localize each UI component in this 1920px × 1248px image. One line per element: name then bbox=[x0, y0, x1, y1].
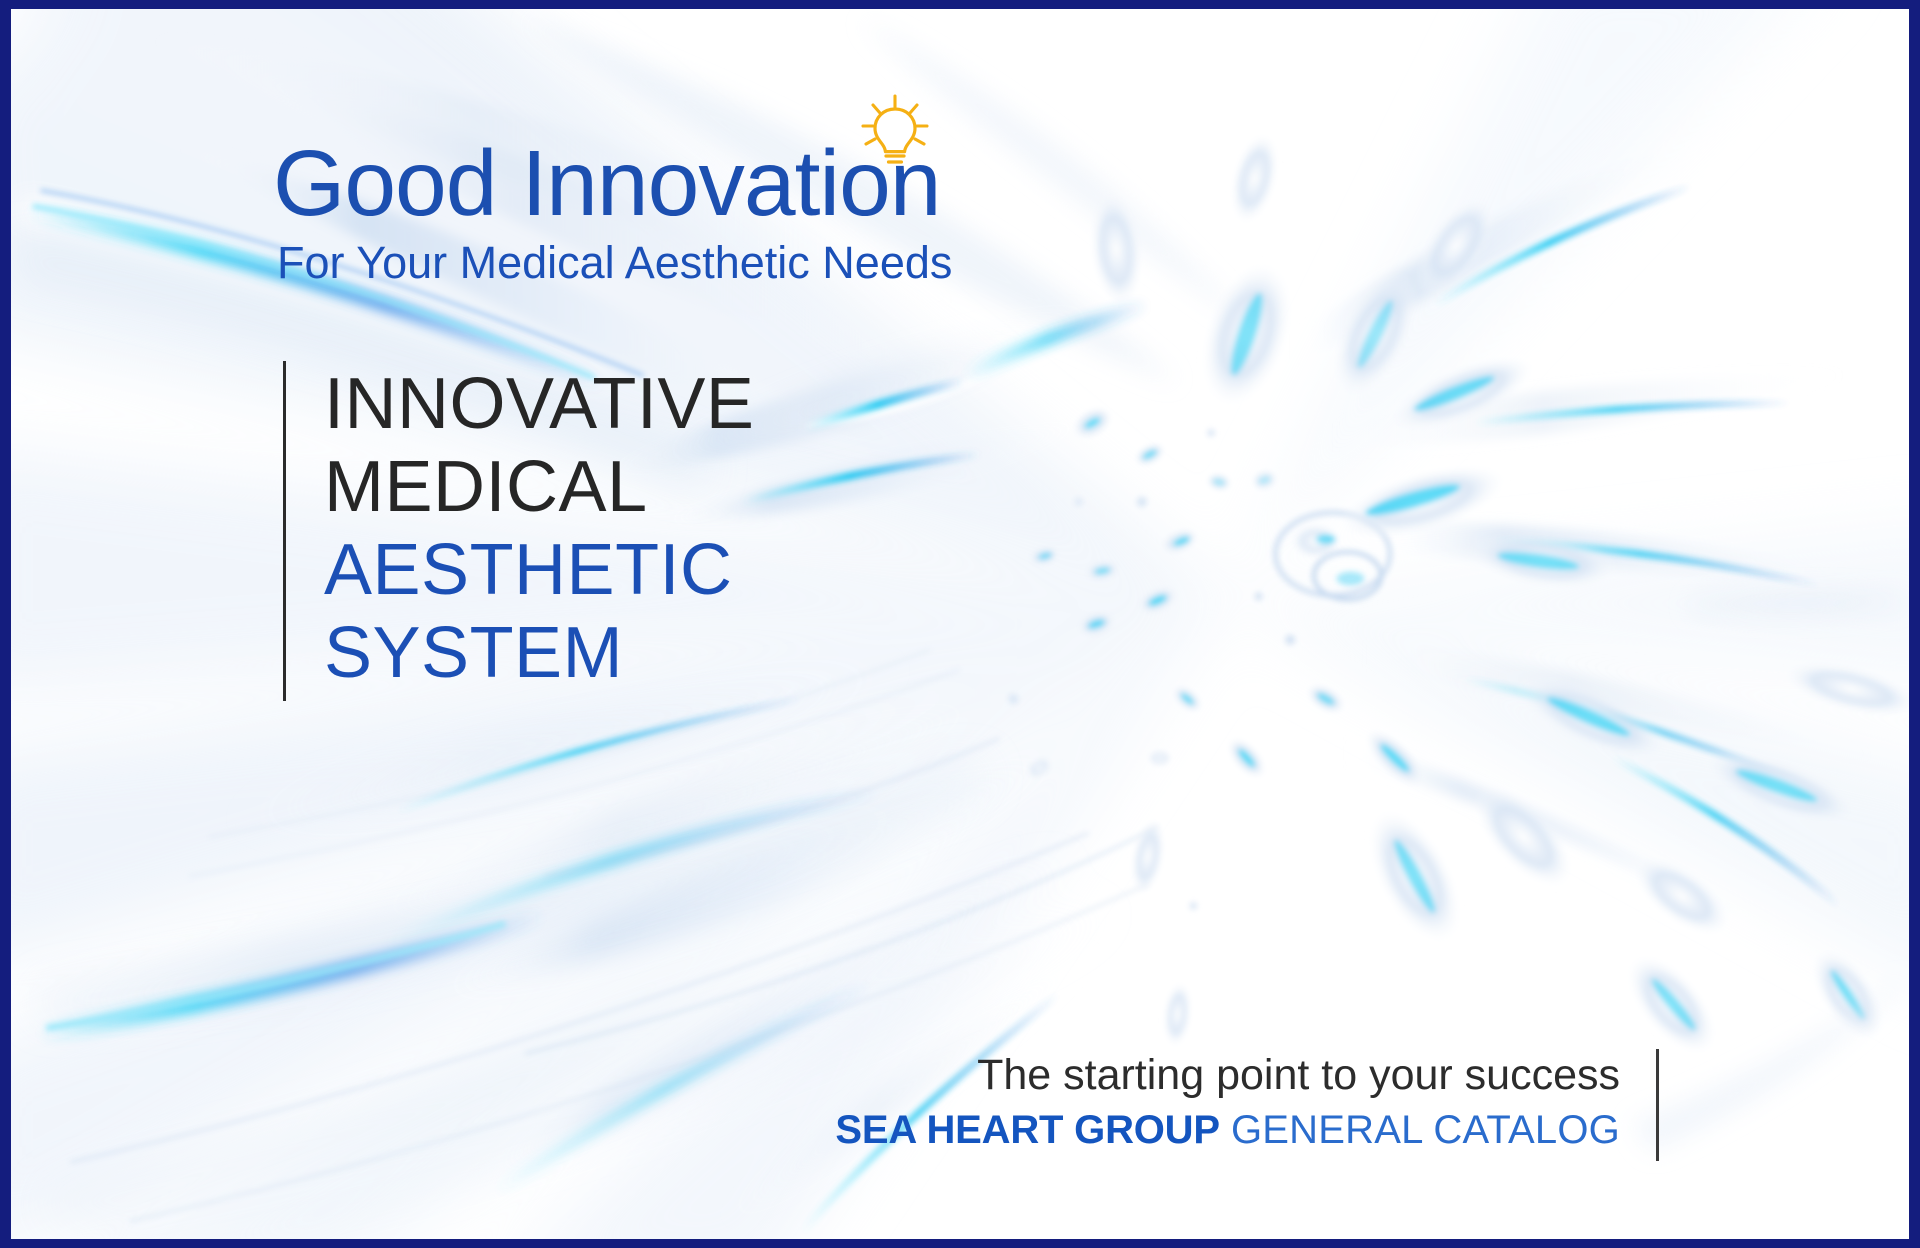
headline-lines: INNOVATIVE MEDICAL AESTHETIC SYSTEM bbox=[324, 361, 754, 701]
headline-divider bbox=[283, 361, 286, 701]
brand-title-text: Good Innovation bbox=[273, 131, 941, 235]
headline-line-4: SYSTEM bbox=[324, 610, 754, 693]
footer-identity: SEA HEART GROUP GENERAL CATALOG bbox=[835, 1105, 1620, 1155]
headline-line-2: MEDICAL bbox=[324, 444, 754, 527]
brand-lockup: Good Innovation bbox=[273, 137, 952, 285]
footer-divider bbox=[1656, 1049, 1659, 1161]
footer-document: GENERAL CATALOG bbox=[1231, 1108, 1620, 1152]
footer-text: The starting point to your success SEA H… bbox=[835, 1049, 1620, 1161]
footer-lockup: The starting point to your success SEA H… bbox=[835, 1049, 1659, 1161]
footer-space bbox=[1220, 1108, 1231, 1152]
footer-company: SEA HEART GROUP bbox=[835, 1108, 1219, 1152]
footer-slogan: The starting point to your success bbox=[835, 1049, 1620, 1101]
headline-line-1: INNOVATIVE bbox=[324, 361, 754, 444]
headline-line-3: AESTHETIC bbox=[324, 527, 754, 610]
lightbulb-icon bbox=[858, 93, 932, 169]
catalog-cover: Good Innovation bbox=[0, 0, 1920, 1248]
headline-block: INNOVATIVE MEDICAL AESTHETIC SYSTEM bbox=[283, 361, 754, 701]
brand-title: Good Innovation bbox=[273, 137, 952, 230]
brand-tagline: For Your Medical Aesthetic Needs bbox=[277, 240, 952, 285]
